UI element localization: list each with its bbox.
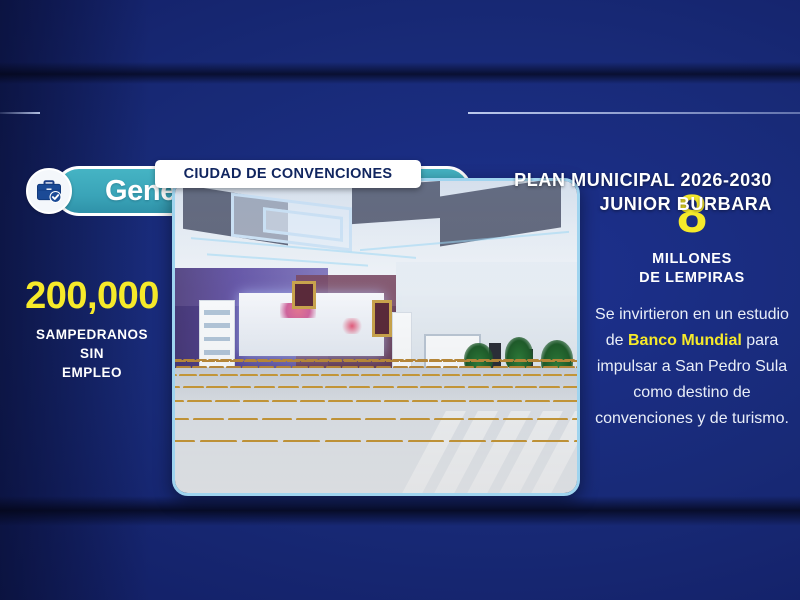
wall-artwork-1	[292, 281, 316, 309]
chair	[491, 440, 527, 442]
chair	[459, 366, 474, 368]
chair	[443, 366, 458, 368]
convention-photo	[172, 178, 580, 496]
chair	[525, 400, 550, 402]
chair	[187, 360, 200, 362]
chair	[384, 400, 409, 402]
chair	[344, 360, 357, 362]
chair	[296, 418, 326, 420]
chair	[397, 386, 418, 388]
header: Generación de empleo PLAN MUNICIPAL 2026…	[0, 82, 800, 138]
chair	[276, 366, 291, 368]
left-stat-block: 200,000 SAMPEDRANOS SIN EMPLEO	[6, 275, 178, 382]
chair	[442, 374, 460, 376]
left-stat-label: SAMPEDRANOS SIN EMPLEO	[6, 325, 178, 382]
wall-artwork-2	[372, 300, 392, 337]
chair	[328, 400, 353, 402]
chair	[258, 360, 271, 362]
chair	[503, 418, 533, 420]
chair	[514, 360, 527, 362]
chair	[563, 386, 577, 388]
chair	[341, 374, 359, 376]
chair	[412, 400, 437, 402]
chair	[543, 366, 558, 368]
chair	[429, 360, 442, 362]
chair	[457, 360, 470, 362]
chair	[415, 360, 428, 362]
chair	[420, 386, 441, 388]
chair	[220, 374, 238, 376]
chair	[331, 418, 361, 420]
chair	[542, 360, 555, 362]
chair	[262, 418, 292, 420]
chair	[230, 360, 243, 362]
right-stat-paragraph: Se invirtieron en un estudio de Banco Mu…	[592, 302, 792, 432]
chair	[493, 366, 508, 368]
chair	[532, 440, 568, 442]
chair	[571, 360, 577, 362]
chair	[199, 374, 217, 376]
right-stat-unit: MILLONES DE LEMPIRAS	[592, 250, 792, 288]
chair	[483, 374, 501, 376]
chair	[509, 366, 524, 368]
chair	[468, 386, 489, 388]
chair	[559, 366, 574, 368]
chair	[372, 360, 385, 362]
chair	[209, 366, 224, 368]
chair	[187, 400, 212, 402]
chair	[175, 374, 177, 376]
chair	[325, 386, 346, 388]
chair	[471, 360, 484, 362]
chair	[259, 366, 274, 368]
right-stat-unit-line1: MILLONES	[592, 250, 792, 269]
chair	[365, 418, 395, 420]
chair	[260, 374, 278, 376]
chair	[426, 366, 441, 368]
chair	[449, 440, 485, 442]
chair	[215, 400, 240, 402]
chair	[515, 386, 536, 388]
chair	[302, 386, 323, 388]
chair	[443, 360, 456, 362]
chair	[500, 360, 513, 362]
chair	[373, 386, 394, 388]
chair	[216, 360, 229, 362]
plan-line: PLAN MUNICIPAL 2026-2030	[514, 168, 772, 192]
chair	[176, 366, 191, 368]
chair	[576, 366, 577, 368]
chair	[402, 374, 420, 376]
chair	[359, 366, 374, 368]
chair	[273, 360, 286, 362]
chair	[497, 400, 522, 402]
right-stat-block: 8 MILLONES DE LEMPIRAS Se invirtieron en…	[592, 186, 792, 432]
chair	[175, 360, 186, 362]
chair	[358, 360, 371, 362]
chair	[376, 366, 391, 368]
chair	[175, 440, 195, 442]
chair	[553, 400, 577, 402]
chair	[528, 360, 541, 362]
chair	[361, 374, 379, 376]
chair	[283, 440, 319, 442]
chair	[408, 440, 444, 442]
chair	[193, 418, 223, 420]
chair	[342, 366, 357, 368]
chair	[300, 400, 325, 402]
chair	[486, 360, 499, 362]
chair	[574, 440, 577, 442]
chair	[226, 366, 241, 368]
chair	[523, 374, 541, 376]
chair	[240, 374, 258, 376]
convention-photo-image	[175, 181, 577, 493]
chair	[382, 374, 400, 376]
chair	[280, 374, 298, 376]
chair	[202, 360, 215, 362]
stage-logo-secondary	[340, 318, 364, 334]
chair	[526, 366, 541, 368]
chair	[572, 418, 577, 420]
bottom-shadow-band	[0, 496, 800, 526]
chair	[315, 360, 328, 362]
chair	[564, 374, 577, 376]
chair	[543, 374, 561, 376]
chair	[366, 440, 402, 442]
briefcase-check-icon	[26, 168, 72, 214]
chair	[393, 366, 408, 368]
chair	[444, 386, 465, 388]
chair	[175, 418, 189, 420]
chair	[386, 360, 399, 362]
chair	[503, 374, 521, 376]
left-stat-label-line2: SIN	[6, 344, 178, 363]
chair	[469, 400, 494, 402]
left-stat-label-line3: EMPLEO	[6, 363, 178, 382]
chair	[183, 386, 204, 388]
chair	[537, 418, 567, 420]
chair	[326, 366, 341, 368]
photo-caption-banner: CIUDAD DE CONVENCIONES	[155, 160, 421, 188]
chair	[349, 386, 370, 388]
chair	[175, 386, 180, 388]
plan-header: PLAN MUNICIPAL 2026-2030 JUNIOR BURBARA	[514, 168, 772, 216]
chair	[301, 360, 314, 362]
chair	[468, 418, 498, 420]
chair	[228, 418, 258, 420]
chair	[356, 400, 381, 402]
left-stat-value: 200,000	[6, 275, 178, 317]
chair	[400, 360, 413, 362]
chair	[287, 360, 300, 362]
chair	[292, 366, 307, 368]
chair	[242, 366, 257, 368]
chair	[244, 360, 257, 362]
chair	[175, 400, 184, 402]
chair	[422, 374, 440, 376]
right-stat-unit-line2: DE LEMPIRAS	[592, 269, 792, 288]
chair	[557, 360, 570, 362]
audience-chairs	[175, 359, 577, 493]
chair	[179, 374, 197, 376]
chair	[441, 400, 466, 402]
chair	[230, 386, 251, 388]
chair	[409, 366, 424, 368]
chair	[325, 440, 361, 442]
chair	[272, 400, 297, 402]
chair	[278, 386, 299, 388]
slide-root: Generación de empleo PLAN MUNICIPAL 2026…	[0, 0, 800, 600]
chair	[476, 366, 491, 368]
chair	[301, 374, 319, 376]
chair	[539, 386, 560, 388]
chair	[242, 440, 278, 442]
chair	[321, 374, 339, 376]
chair	[329, 360, 342, 362]
chair	[192, 366, 207, 368]
chair	[434, 418, 464, 420]
top-shadow-band	[0, 62, 800, 84]
chair	[243, 400, 268, 402]
chair	[206, 386, 227, 388]
left-stat-label-line1: SAMPEDRANOS	[6, 325, 178, 344]
chair	[200, 440, 236, 442]
candidate-line: JUNIOR BURBARA	[514, 192, 772, 216]
photo-caption-text: CIUDAD DE CONVENCIONES	[184, 166, 393, 182]
chair	[309, 366, 324, 368]
chair	[254, 386, 275, 388]
paragraph-highlight: Banco Mundial	[628, 332, 742, 349]
chair	[462, 374, 480, 376]
chair	[492, 386, 513, 388]
chair	[400, 418, 430, 420]
